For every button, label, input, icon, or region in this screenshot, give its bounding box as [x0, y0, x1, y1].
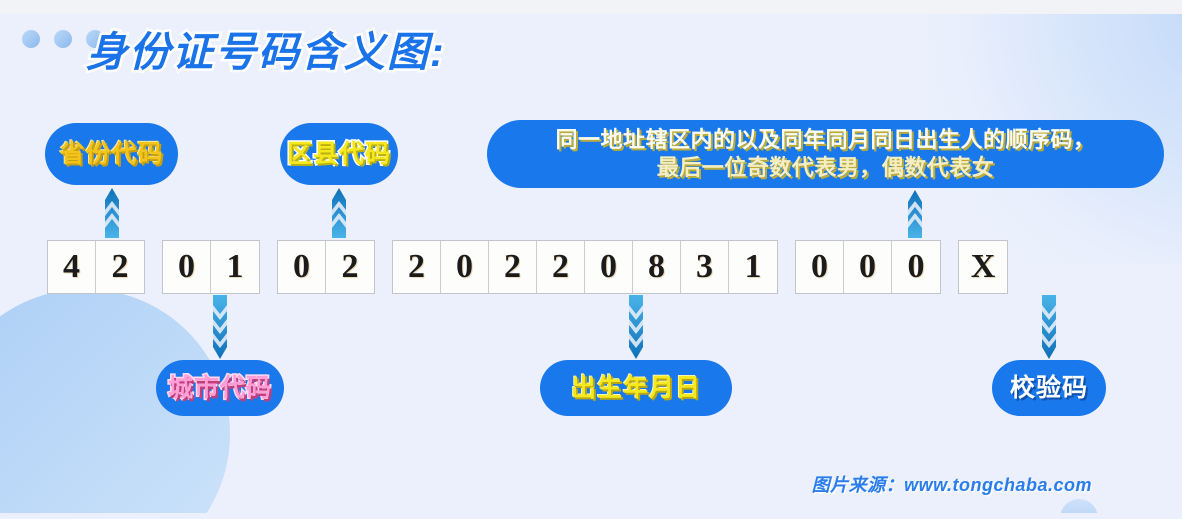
- digit-cell: 0: [441, 241, 489, 293]
- digit-group-district: 0 2: [277, 240, 375, 294]
- arrow-down-birthdate-icon: [629, 295, 643, 359]
- sequence-line-2: 最后一位奇数代表男，偶数代表女: [657, 155, 995, 180]
- digit-cell: 2: [537, 241, 585, 293]
- label-bubble-district-text: 区县代码: [287, 138, 391, 170]
- digit-group-sequence: 0 0 0: [795, 240, 941, 294]
- dot-icon: [22, 30, 40, 48]
- arrow-up-province-icon: [105, 188, 119, 238]
- label-bubble-province-text: 省份代码: [59, 138, 163, 170]
- digit-cell: 4: [48, 241, 96, 293]
- digit-group-checkcode: X: [958, 240, 1008, 294]
- digit-cell: 0: [892, 241, 940, 293]
- digit-cell: 2: [326, 241, 374, 293]
- id-number-row: 4 2 0 1 0 2 2 0 2 2 0 8 3 1 0 0 0 X: [47, 240, 1008, 294]
- label-bubble-sequence: 同一地址辖区内的以及同年同月同日出生人的顺序码， 最后一位奇数代表男，偶数代表女: [487, 120, 1164, 188]
- digit-cell: 0: [796, 241, 844, 293]
- digit-group-city: 0 1: [162, 240, 260, 294]
- digit-cell: 0: [163, 241, 211, 293]
- sequence-line-1: 同一地址辖区内的以及同年同月同日出生人的顺序码，: [555, 127, 1095, 152]
- label-bubble-district: 区县代码: [280, 123, 398, 185]
- bottom-strip-decoration: [0, 513, 1182, 519]
- digit-cell: 0: [844, 241, 892, 293]
- digit-cell: 0: [278, 241, 326, 293]
- top-strip-decoration: [0, 0, 1182, 14]
- arrow-up-district-icon: [332, 188, 346, 238]
- page-title: 身份证号码含义图:: [86, 18, 446, 78]
- label-bubble-birthdate-text: 出生年月日: [571, 372, 701, 404]
- label-bubble-birthdate: 出生年月日: [540, 360, 732, 416]
- label-bubble-checkcode-text: 校验码: [1010, 372, 1088, 404]
- infographic-canvas: 身份证号码含义图: 省份代码 区县代码 同一地址辖区内的以及同年同月同日出生人的…: [0, 0, 1182, 519]
- digit-cell: X: [959, 241, 1007, 293]
- digit-cell: 2: [96, 241, 144, 293]
- label-bubble-checkcode: 校验码: [992, 360, 1106, 416]
- digit-cell: 2: [393, 241, 441, 293]
- digit-cell: 0: [585, 241, 633, 293]
- digit-cell: 3: [681, 241, 729, 293]
- label-bubble-city: 城市代码: [156, 360, 284, 416]
- digit-cell: 1: [729, 241, 777, 293]
- digit-cell: 8: [633, 241, 681, 293]
- label-bubble-city-text: 城市代码: [168, 372, 272, 404]
- arrow-down-checkcode-icon: [1042, 295, 1056, 359]
- digit-cell: 2: [489, 241, 537, 293]
- arrow-down-city-icon: [213, 295, 227, 359]
- digit-group-birthdate: 2 0 2 2 0 8 3 1: [392, 240, 778, 294]
- digit-group-province: 4 2: [47, 240, 145, 294]
- digit-cell: 1: [211, 241, 259, 293]
- label-bubble-province: 省份代码: [45, 123, 178, 185]
- source-attribution: 图片来源：www.tongchaba.com: [812, 471, 1092, 497]
- label-bubble-sequence-text: 同一地址辖区内的以及同年同月同日出生人的顺序码， 最后一位奇数代表男，偶数代表女: [555, 126, 1095, 182]
- arrow-up-sequence-icon: [908, 190, 922, 238]
- dot-icon: [54, 30, 72, 48]
